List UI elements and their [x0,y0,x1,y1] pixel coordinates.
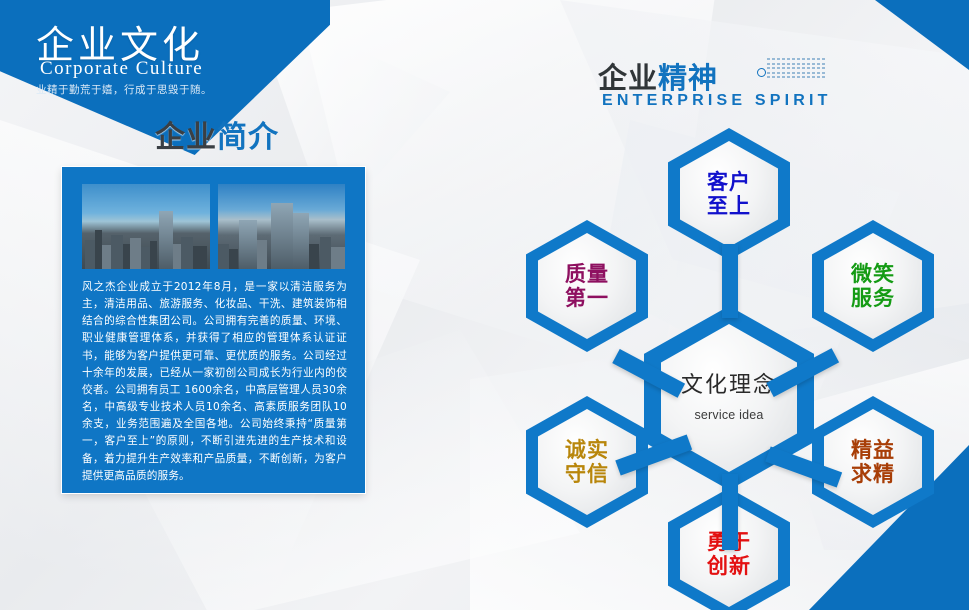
hexagon-smile-service[interactable]: 微笑 服务 [812,220,934,352]
culture-hexagon-diagram: 文化理念 service idea 客户 至上 质量 第一 [490,120,969,610]
page-title: 企业简介 [155,112,279,156]
spoke-bottom [722,474,738,550]
spirit-title-blue: 精神 [658,61,718,95]
hexagon-label-line2: 服务 [851,286,895,310]
spirit-title-dark: 企业 [598,61,658,95]
hexagon-label-line2: 求精 [851,462,895,486]
city-skyline-photo [82,184,210,269]
hexagon-label-line2: 至上 [707,194,751,218]
hexagon-label-line2: 守信 [565,462,609,486]
page-title-blue: 简介 [217,120,279,155]
hexagon-center-subtitle: service idea [694,408,763,423]
hexagon-label-line1: 诚实 [565,438,609,462]
spirit-dot-icon [757,68,766,77]
page-title-dark: 企业 [155,120,217,155]
hexagon-label: 精益 求精 [812,396,934,528]
hexagon-label: 微笑 服务 [812,220,934,352]
hexagon-label-line1: 微笑 [851,262,895,286]
poster-canvas: 企业文化 Corporate Culture 业精于勤荒于嬉，行成于思毁于随。 … [0,0,969,610]
hexagon-label-line2: 第一 [565,286,609,310]
hexagon-label-line1: 客户 [707,170,751,194]
decorative-text-lines [767,58,825,81]
hexagon-quality-first[interactable]: 质量 第一 [526,220,648,352]
spirit-title-en: ENTERPRISE SPIRIT [602,92,832,110]
hexagon-label-line1: 质量 [565,262,609,286]
hexagon-excellence[interactable]: 精益 求精 [812,396,934,528]
card-photo-row [82,184,345,269]
skyscraper-photo [218,184,346,269]
hexagon-label: 质量 第一 [526,220,648,352]
hexagon-label-line1: 精益 [851,438,895,462]
company-intro-text: 风之杰企业成立于2012年8月，是一家以清洁服务为主，清洁用品、旅游服务、化妆品… [82,279,347,485]
header-title-en: Corporate Culture [40,58,203,80]
hexagon-center-title: 文化理念 [681,373,777,399]
header-subtitle: 业精于勤荒于嬉，行成于思毁于随。 [36,82,212,97]
spoke-top [722,244,738,318]
company-intro-card: 风之杰企业成立于2012年8月，是一家以清洁服务为主，清洁用品、旅游服务、化妆品… [62,167,365,493]
spirit-title: 企业精神 [598,55,718,97]
hexagon-customer-first[interactable]: 客户 至上 [668,128,790,260]
hexagon-label: 客户 至上 [668,128,790,260]
hexagon-label-line2: 创新 [707,554,751,578]
